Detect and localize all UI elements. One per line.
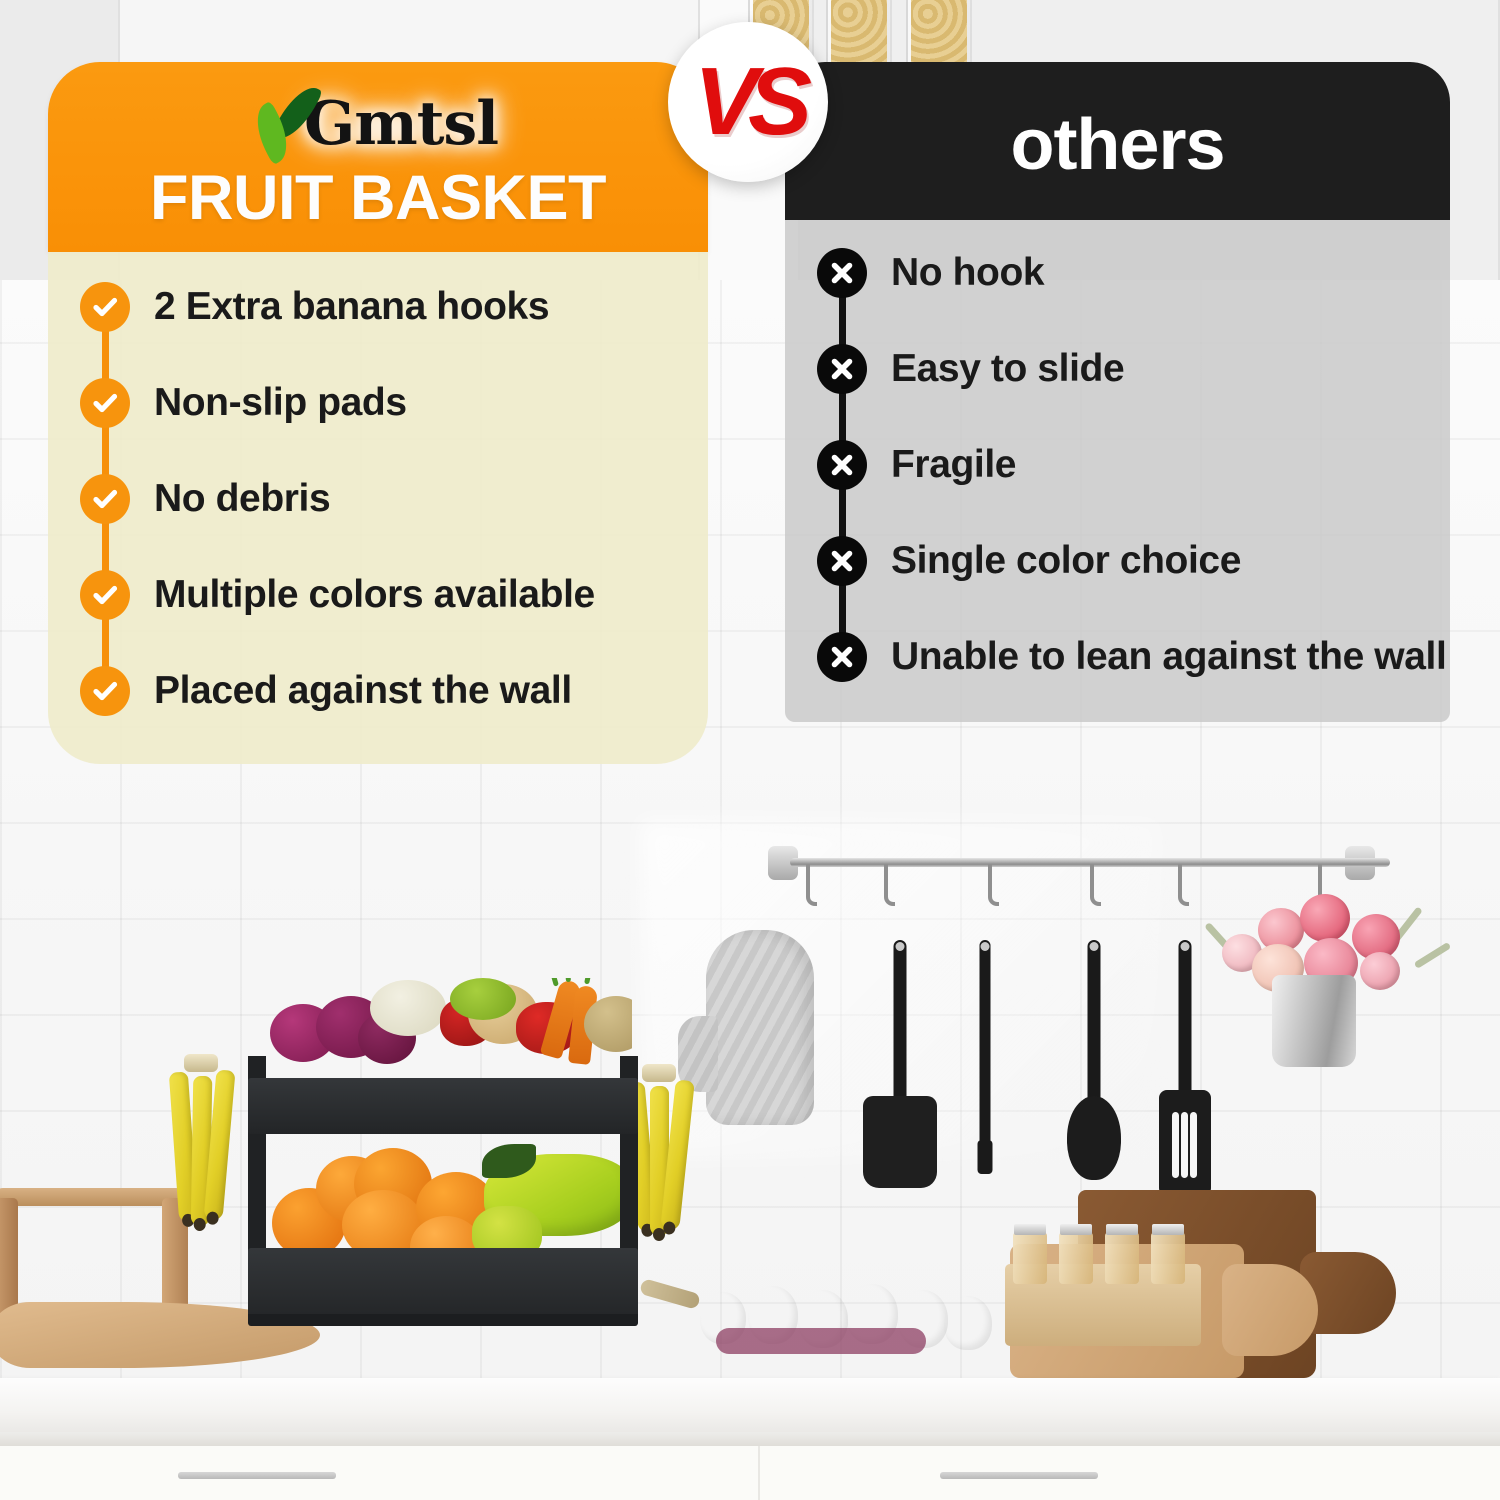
check-icon — [80, 570, 130, 620]
feature-label: Non-slip pads — [154, 378, 407, 427]
leaf-icon — [254, 84, 330, 158]
feature-row: Unable to lean against the wall — [785, 632, 1450, 682]
feature-label: Unable to lean against the wall — [891, 632, 1446, 681]
vs-badge: VS — [668, 22, 828, 182]
brand-panel-header: Gmtsl FRUIT BASKET — [48, 62, 708, 252]
feature-row: Placed against the wall — [48, 666, 708, 716]
check-icon — [80, 282, 130, 332]
feature-label: No debris — [154, 474, 330, 523]
feature-label: Fragile — [891, 440, 1016, 489]
others-panel-header: others — [785, 62, 1450, 220]
brand-logo: Gmtsl — [258, 88, 498, 162]
brand-panel: Gmtsl FRUIT BASKET 2 Extra banana hooksN… — [48, 62, 708, 764]
feature-row: Single color choice — [785, 536, 1450, 586]
feature-row: No hook — [785, 248, 1450, 298]
feature-label: 2 Extra banana hooks — [154, 282, 549, 331]
check-icon — [80, 378, 130, 428]
feature-row: Non-slip pads — [48, 378, 708, 428]
brand-panel-body: 2 Extra banana hooksNon-slip padsNo debr… — [48, 252, 708, 764]
feature-label: Placed against the wall — [154, 666, 572, 715]
feature-label: No hook — [891, 248, 1044, 297]
brand-feature-list: 2 Extra banana hooksNon-slip padsNo debr… — [48, 282, 708, 716]
vs-label: VS — [668, 22, 828, 182]
cross-icon — [817, 440, 867, 490]
cross-icon — [817, 248, 867, 298]
cross-icon — [817, 344, 867, 394]
check-icon — [80, 474, 130, 524]
feature-row: Fragile — [785, 440, 1450, 490]
check-icon — [80, 666, 130, 716]
feature-row: Easy to slide — [785, 344, 1450, 394]
feature-row: No debris — [48, 474, 708, 524]
others-panel-title: others — [785, 108, 1450, 182]
brand-panel-title: FRUIT BASKET — [48, 164, 708, 232]
feature-row: 2 Extra banana hooks — [48, 282, 708, 332]
feature-label: Easy to slide — [891, 344, 1124, 393]
feature-row: Multiple colors available — [48, 570, 708, 620]
others-panel-body: No hookEasy to slideFragileSingle color … — [785, 220, 1450, 722]
others-feature-list: No hookEasy to slideFragileSingle color … — [785, 248, 1450, 682]
cross-icon — [817, 536, 867, 586]
feature-label: Multiple colors available — [154, 570, 595, 619]
feature-label: Single color choice — [891, 536, 1241, 585]
cross-icon — [817, 632, 867, 682]
others-panel: others No hookEasy to slideFragileSingle… — [785, 62, 1450, 722]
comparison-overlay: Gmtsl FRUIT BASKET 2 Extra banana hooksN… — [0, 0, 1500, 1500]
